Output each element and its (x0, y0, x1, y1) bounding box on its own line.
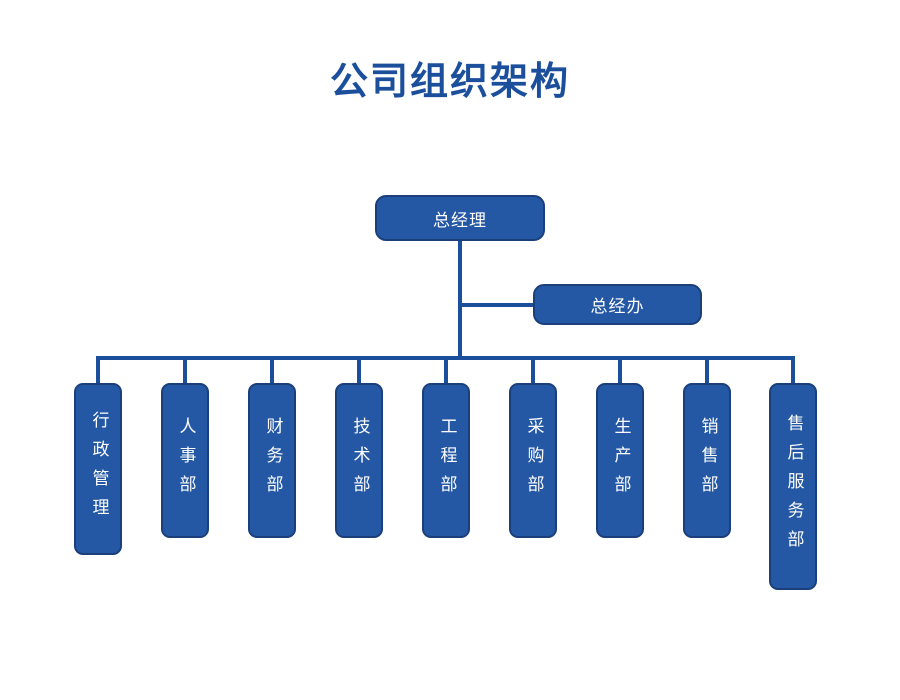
connector-drop-d3 (270, 356, 274, 384)
node-general-manager[interactable]: 总经理 (375, 195, 545, 241)
connector-gm-to-gmo (458, 303, 535, 307)
node-department-procurement[interactable]: 采购部 (509, 383, 557, 538)
node-department-administration[interactable]: 行政管理 (74, 383, 122, 555)
node-department-finance[interactable]: 财务部 (248, 383, 296, 538)
page-title: 公司组织架构 (0, 58, 900, 104)
node-department-after-sales-service[interactable]: 售后服务部 (769, 383, 817, 590)
connector-drop-d6 (531, 356, 535, 384)
connector-drop-d9 (791, 356, 795, 384)
node-department-technology-label: 技术部 (351, 417, 368, 504)
connector-drop-d2 (183, 356, 187, 384)
node-department-human-resources[interactable]: 人事部 (161, 383, 209, 538)
node-general-manager-office-label: 总经办 (591, 292, 645, 317)
node-department-sales-label: 销售部 (699, 417, 716, 504)
connector-drop-d7 (618, 356, 622, 384)
node-department-technology[interactable]: 技术部 (335, 383, 383, 538)
node-department-after-sales-service-label: 售后服务部 (785, 414, 802, 559)
node-department-administration-label: 行政管理 (90, 411, 107, 527)
connector-gm-trunk (458, 240, 462, 360)
node-department-human-resources-label: 人事部 (177, 417, 194, 504)
connector-drop-d5 (444, 356, 448, 384)
node-department-sales[interactable]: 销售部 (683, 383, 731, 538)
connector-drop-d1 (96, 356, 100, 384)
connector-drop-d8 (705, 356, 709, 384)
node-general-manager-office[interactable]: 总经办 (533, 284, 702, 325)
node-department-engineering[interactable]: 工程部 (422, 383, 470, 538)
node-department-finance-label: 财务部 (264, 417, 281, 504)
node-department-engineering-label: 工程部 (438, 417, 455, 504)
org-chart-canvas: 公司组织架构 总经理 总经办 行政管理 人事部 财务部 技术部 工程部 采购部 (0, 0, 900, 700)
node-department-production-label: 生产部 (612, 417, 629, 504)
node-department-procurement-label: 采购部 (525, 417, 542, 504)
node-general-manager-label: 总经理 (433, 206, 487, 231)
connector-drop-d4 (357, 356, 361, 384)
node-department-production[interactable]: 生产部 (596, 383, 644, 538)
